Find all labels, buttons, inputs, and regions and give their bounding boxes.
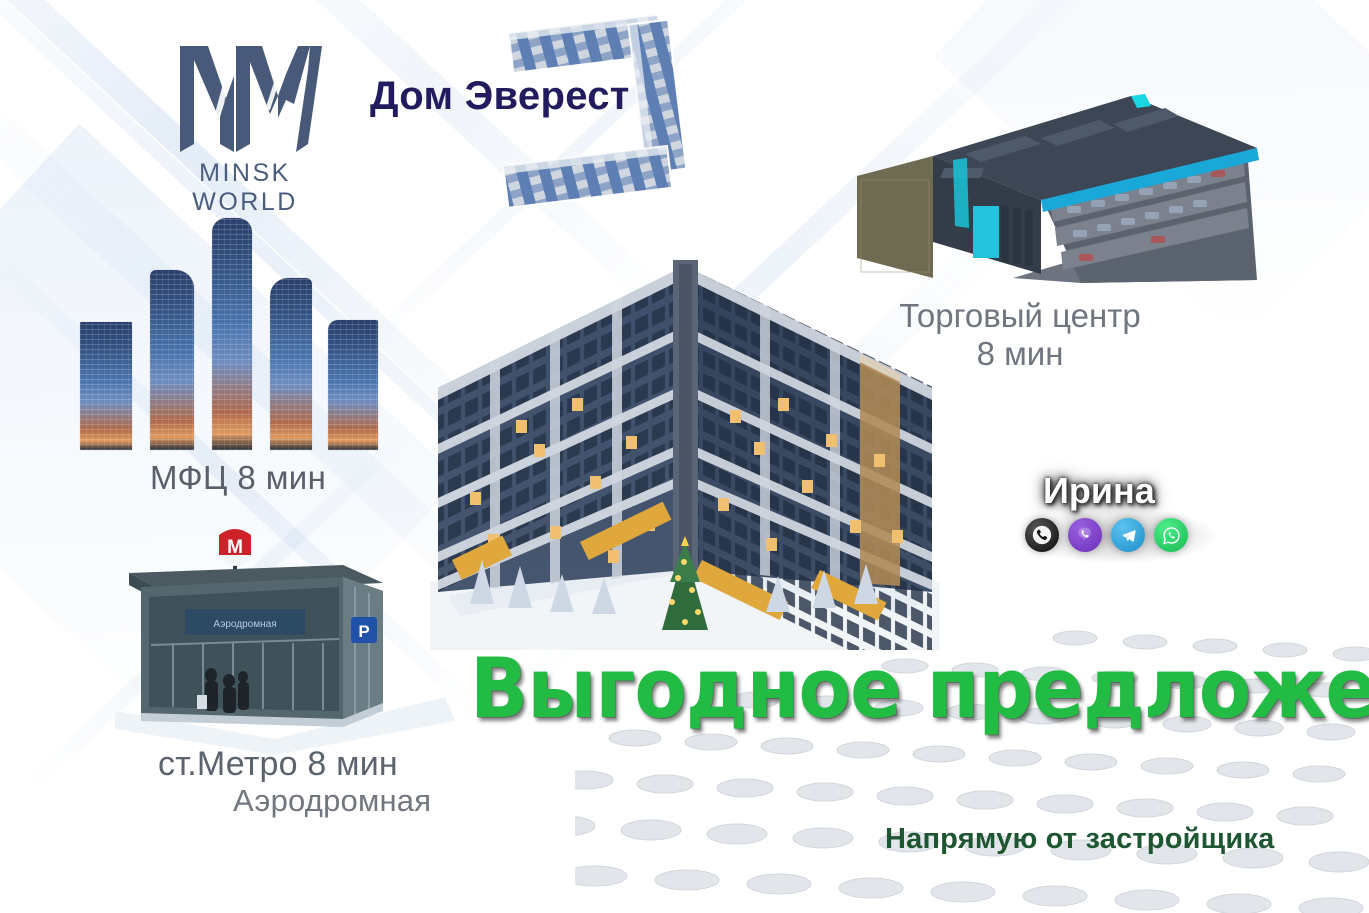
contact-block: Ирина (1025, 468, 1230, 573)
mall-label: Торговый центр8 мин (880, 297, 1160, 372)
developer-tagline: Напрямую от застройщика (885, 823, 1274, 856)
agent-name: Ирина (1043, 470, 1155, 512)
mw-monogram-icon (150, 40, 340, 155)
house-name-label: Дом Эверест (370, 74, 630, 119)
viber-icon[interactable] (1068, 518, 1102, 552)
parking-sign-icon: P (358, 622, 369, 641)
svg-text:M: M (227, 537, 243, 558)
telegram-icon[interactable] (1111, 518, 1145, 552)
tower (212, 218, 252, 450)
station-plate-text: Аэродромная (213, 619, 276, 630)
skyscraper-cluster-image (70, 200, 400, 450)
tower (80, 322, 132, 450)
aerial-housing-block-image (495, 5, 710, 235)
metro-label: ст.Метро 8 мин (158, 745, 398, 784)
tower (328, 320, 378, 450)
minsk-world-logo: MINSK WORLD (150, 40, 340, 190)
tower (150, 270, 194, 450)
mfc-label: МФЦ 8 мин (150, 459, 326, 497)
advertisement-poster: MINSK WORLD (0, 0, 1369, 913)
metro-station-image: M Аэродромная P (115, 525, 460, 755)
whatsapp-icon[interactable] (1154, 518, 1188, 552)
metro-station-label: Аэродромная (233, 783, 431, 819)
phone-icon[interactable] (1025, 518, 1059, 552)
tower (270, 278, 312, 450)
metro-m-logo-icon: M (216, 528, 254, 566)
mall-label-line1: Торговый центр (899, 297, 1140, 334)
mall-label-line2: 8 мин (977, 335, 1064, 372)
messenger-icons (1025, 518, 1188, 552)
headline: Выгодное предложение (470, 640, 1369, 737)
main-residential-building-image (430, 230, 940, 650)
